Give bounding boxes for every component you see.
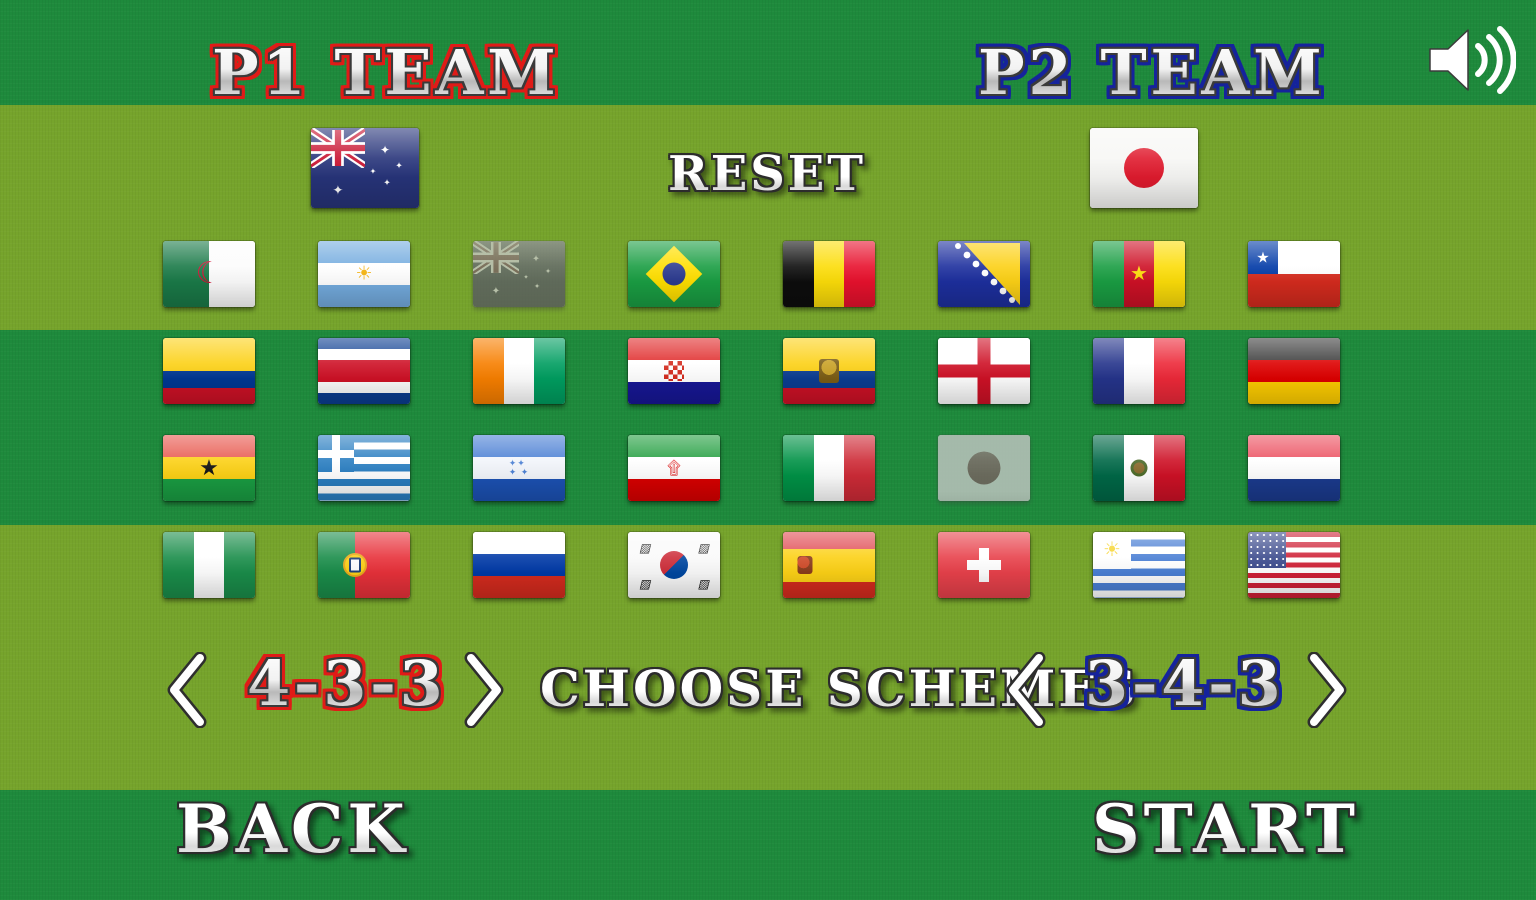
- flag-cell-spain[interactable]: [783, 532, 875, 598]
- p2-scheme-prev-button[interactable]: [997, 645, 1055, 735]
- flag-cell-argentina[interactable]: ☀: [318, 241, 410, 307]
- flag-honduras: ✦✦✦ ✦: [473, 435, 565, 501]
- flag-spain: [783, 532, 875, 598]
- flag-russia: [473, 532, 565, 598]
- flag-ivory-coast: [473, 338, 565, 404]
- flag-grid: ☾ ☀ ✦ ✦ ✦ ✦ ✦: [163, 241, 1399, 598]
- start-button[interactable]: START: [1092, 790, 1359, 868]
- p2-team-title: P2 TEAM: [978, 36, 1326, 109]
- flag-cell-algeria[interactable]: ☾: [163, 241, 255, 307]
- flag-colombia: [163, 338, 255, 404]
- flag-cell-nigeria[interactable]: [163, 532, 255, 598]
- p2-scheme-value: 3-4-3: [1085, 647, 1284, 720]
- flag-algeria: ☾: [163, 241, 255, 307]
- flag-cell-australia[interactable]: ✦ ✦ ✦ ✦ ✦: [473, 241, 565, 307]
- flag-germany: [1248, 338, 1340, 404]
- flag-cell-ghana[interactable]: ★: [163, 435, 255, 501]
- flag-cell-united-states[interactable]: [1248, 532, 1340, 598]
- flag-croatia: [628, 338, 720, 404]
- flag-cell-ecuador[interactable]: [783, 338, 875, 404]
- flag-belgium: [783, 241, 875, 307]
- chevron-right-icon: [1304, 652, 1350, 728]
- flag-france: [1093, 338, 1185, 404]
- flag-cell-brazil[interactable]: [628, 241, 720, 307]
- flag-cell-switzerland[interactable]: [938, 532, 1030, 598]
- p1-scheme-next-button[interactable]: [455, 645, 513, 735]
- flag-cell-greece[interactable]: [318, 435, 410, 501]
- flag-cell-japan[interactable]: [938, 435, 1030, 501]
- flag-cell-ivory-coast[interactable]: [473, 338, 565, 404]
- flag-cell-colombia[interactable]: [163, 338, 255, 404]
- flag-cell-chile[interactable]: ★: [1248, 241, 1340, 307]
- p1-scheme-prev-button[interactable]: [158, 645, 216, 735]
- p2-scheme-next-button[interactable]: [1298, 645, 1356, 735]
- flag-cell-uruguay[interactable]: ☀: [1093, 532, 1185, 598]
- flag-south-korea: ▨ ▨ ▨ ▨: [628, 532, 720, 598]
- schemes-row: 4-3-3 CHOOSE SCHEMES 3-4-3: [0, 645, 1536, 735]
- p1-team-title: P1 TEAM: [212, 36, 560, 109]
- flag-cell-italy[interactable]: [783, 435, 875, 501]
- flag-greece: [318, 435, 410, 501]
- flag-cell-portugal[interactable]: [318, 532, 410, 598]
- flag-iran: ۩: [628, 435, 720, 501]
- p1-selected-flag[interactable]: ✦ ✦ ✦ ✦ ✦: [311, 128, 419, 208]
- speaker-on-icon: [1424, 24, 1516, 96]
- flag-england: [938, 338, 1030, 404]
- chevron-left-icon: [1003, 652, 1049, 728]
- flag-cell-england[interactable]: [938, 338, 1030, 404]
- flag-cell-honduras[interactable]: ✦✦✦ ✦: [473, 435, 565, 501]
- flag-nigeria: [163, 532, 255, 598]
- p2-selected-flag[interactable]: [1090, 128, 1198, 208]
- flag-cell-belgium[interactable]: [783, 241, 875, 307]
- flag-portugal: [318, 532, 410, 598]
- flag-bosnia: [938, 241, 1030, 307]
- flag-ecuador: [783, 338, 875, 404]
- flag-cell-netherlands[interactable]: [1248, 435, 1340, 501]
- chevron-left-icon: [164, 652, 210, 728]
- flag-italy: [783, 435, 875, 501]
- reset-button[interactable]: RESET: [668, 146, 866, 202]
- flag-cell-costa-rica[interactable]: [318, 338, 410, 404]
- back-button[interactable]: BACK: [176, 790, 409, 868]
- flag-cell-croatia[interactable]: [628, 338, 720, 404]
- p1-scheme-value: 4-3-3: [247, 647, 446, 720]
- flag-uruguay: ☀: [1093, 532, 1185, 598]
- flag-cameroon: ★: [1093, 241, 1185, 307]
- flag-japan: [1090, 128, 1198, 208]
- flag-cell-bosnia-and-herzegovina[interactable]: [938, 241, 1030, 307]
- flag-united-states: [1248, 532, 1340, 598]
- flag-cell-south-korea[interactable]: ▨ ▨ ▨ ▨: [628, 532, 720, 598]
- flag-australia: ✦ ✦ ✦ ✦ ✦: [311, 128, 419, 208]
- flag-cell-mexico[interactable]: [1093, 435, 1185, 501]
- sound-toggle-button[interactable]: [1420, 20, 1520, 100]
- flag-brazil: [628, 241, 720, 307]
- chevron-right-icon: [461, 652, 507, 728]
- flag-japan: [938, 435, 1030, 501]
- flag-switzerland: [938, 532, 1030, 598]
- flag-ghana: ★: [163, 435, 255, 501]
- flag-cell-france[interactable]: [1093, 338, 1185, 404]
- flag-costa-rica: [318, 338, 410, 404]
- flag-mexico: [1093, 435, 1185, 501]
- flag-cell-germany[interactable]: [1248, 338, 1340, 404]
- flag-argentina: ☀: [318, 241, 410, 307]
- flag-cell-cameroon[interactable]: ★: [1093, 241, 1185, 307]
- flag-chile: ★: [1248, 241, 1340, 307]
- flag-australia: ✦ ✦ ✦ ✦ ✦: [473, 241, 565, 307]
- flag-netherlands: [1248, 435, 1340, 501]
- flag-cell-iran[interactable]: ۩: [628, 435, 720, 501]
- flag-cell-russia[interactable]: [473, 532, 565, 598]
